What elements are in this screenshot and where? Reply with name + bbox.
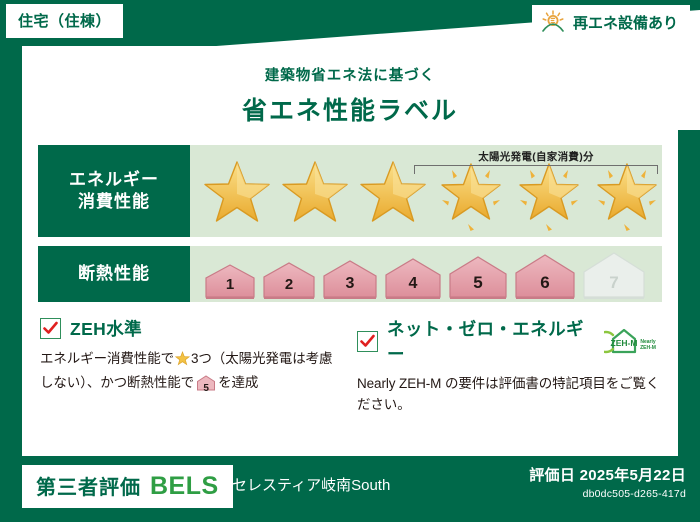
svg-text:ZEH-M: ZEH-M <box>611 338 638 348</box>
building-type-tag: 住宅（住棟） <box>6 4 123 38</box>
evaluation-date: 評価日 2025年5月22日 <box>529 464 686 485</box>
red-check-icon <box>40 318 61 339</box>
zeh-sections: ZEH水準 エネルギー消費性能で 3つ（太陽光発電は考慮しない）、かつ断熱性能で… <box>40 316 660 415</box>
insulation-level-value: 7 <box>580 273 648 293</box>
ratings-section: エネルギー 消費性能 <box>38 145 662 302</box>
label-subtitle: 建築物省エネ法に基づく <box>22 64 678 85</box>
star-icon <box>198 148 276 234</box>
building-name: セレスティア岐南South <box>232 474 390 495</box>
evaluation-info: 評価日 2025年5月22日 db0dc505-d265-417d <box>529 464 686 500</box>
star-icon <box>276 148 354 234</box>
insulation-level-marker: 5 <box>446 253 510 299</box>
insulation-level-marker: 3 <box>320 257 380 299</box>
insulation-level-value: 2 <box>260 276 318 293</box>
energy-label-line2: 消費性能 <box>78 192 150 211</box>
insulation-level-marker: 6 <box>512 251 578 299</box>
insulation-level-marker: 2 <box>260 259 318 299</box>
insulation-levels-area: 1 2 <box>190 246 662 302</box>
zeh-desc-part1: エネルギー消費性能で <box>40 351 174 366</box>
bels-logo-text: BELS <box>150 472 219 501</box>
label-title: 省エネ性能ラベル <box>22 91 678 127</box>
zeh-standard-column: ZEH水準 エネルギー消費性能で 3つ（太陽光発電は考慮しない）、かつ断熱性能で… <box>40 316 343 415</box>
insulation-scale: 1 2 <box>190 249 648 299</box>
insulation-performance-row: 断熱性能 1 <box>38 246 662 302</box>
energy-performance-label: 住宅（住棟） 再エネ設備あり 建築物省エネ法に基づく 省エネ性能ラベル <box>0 0 700 522</box>
title-block: 建築物省エネ法に基づく 省エネ性能ラベル <box>22 46 678 127</box>
insulation-level-marker: 4 <box>382 255 444 299</box>
energy-performance-row: エネルギー 消費性能 <box>38 145 662 237</box>
insulation-level-marker-inactive: 7 <box>580 249 648 299</box>
third-party-evaluation-label: 第三者評価 <box>36 471 141 500</box>
insulation-level-marker: 1 <box>202 261 258 299</box>
star-rating <box>190 148 666 234</box>
insulation-level-value: 6 <box>512 273 578 293</box>
zeh-desc-part3: を達成 <box>218 375 258 390</box>
bels-certification-badge: 第三者評価 BELS <box>22 465 233 508</box>
label-footer: 第三者評価 BELS セレスティア岐南South 評価日 2025年5月22日 … <box>0 456 700 522</box>
renewable-energy-badge: 再エネ設備あり <box>532 5 690 39</box>
energy-stars-area: 太陽光発電(自家消費)分 <box>190 145 666 237</box>
insulation-level-value: 3 <box>320 275 380 293</box>
net-zero-energy-header: ネット・ゼロ・エネルギー ZEH-M Nearly ZEH-M <box>357 316 660 366</box>
star-icon <box>175 351 190 373</box>
insulation-level-value: 1 <box>202 276 258 293</box>
energy-label-line1: エネルギー <box>69 170 159 189</box>
record-id: db0dc505-d265-417d <box>529 488 686 500</box>
net-zero-energy-title: ネット・ゼロ・エネルギー <box>387 316 593 366</box>
insulation-level-value: 4 <box>382 275 444 293</box>
svg-text:ZEH-M: ZEH-M <box>640 345 656 351</box>
net-zero-energy-column: ネット・ゼロ・エネルギー ZEH-M Nearly ZEH-M Nearly Z… <box>357 316 660 415</box>
star-icon <box>354 148 432 234</box>
insulation-level-inline-badge: 5 <box>196 375 216 398</box>
label-content-panel: 建築物省エネ法に基づく 省エネ性能ラベル エネルギー 消費性能 <box>22 46 678 456</box>
solar-sun-icon <box>540 10 566 34</box>
energy-performance-label: エネルギー 消費性能 <box>38 145 190 237</box>
zeh-standard-description: エネルギー消費性能で 3つ（太陽光発電は考慮しない）、かつ断熱性能で 5を達成 <box>40 349 343 397</box>
star-solar-icon <box>588 148 666 234</box>
net-zero-energy-description: Nearly ZEH-M の要件は評価書の特記項目をご覧ください。 <box>357 374 660 415</box>
inline-house-value: 5 <box>196 381 216 396</box>
star-solar-icon <box>432 148 510 234</box>
renewable-badge-label: 再エネ設備あり <box>573 12 678 33</box>
zeh-standard-title: ZEH水準 <box>70 316 142 341</box>
zeh-m-logo: ZEH-M Nearly ZEH-M <box>604 326 660 356</box>
red-check-icon <box>357 331 378 352</box>
insulation-performance-label: 断熱性能 <box>38 246 190 302</box>
star-solar-icon <box>510 148 588 234</box>
insulation-level-value: 5 <box>446 273 510 293</box>
zeh-standard-header: ZEH水準 <box>40 316 343 341</box>
